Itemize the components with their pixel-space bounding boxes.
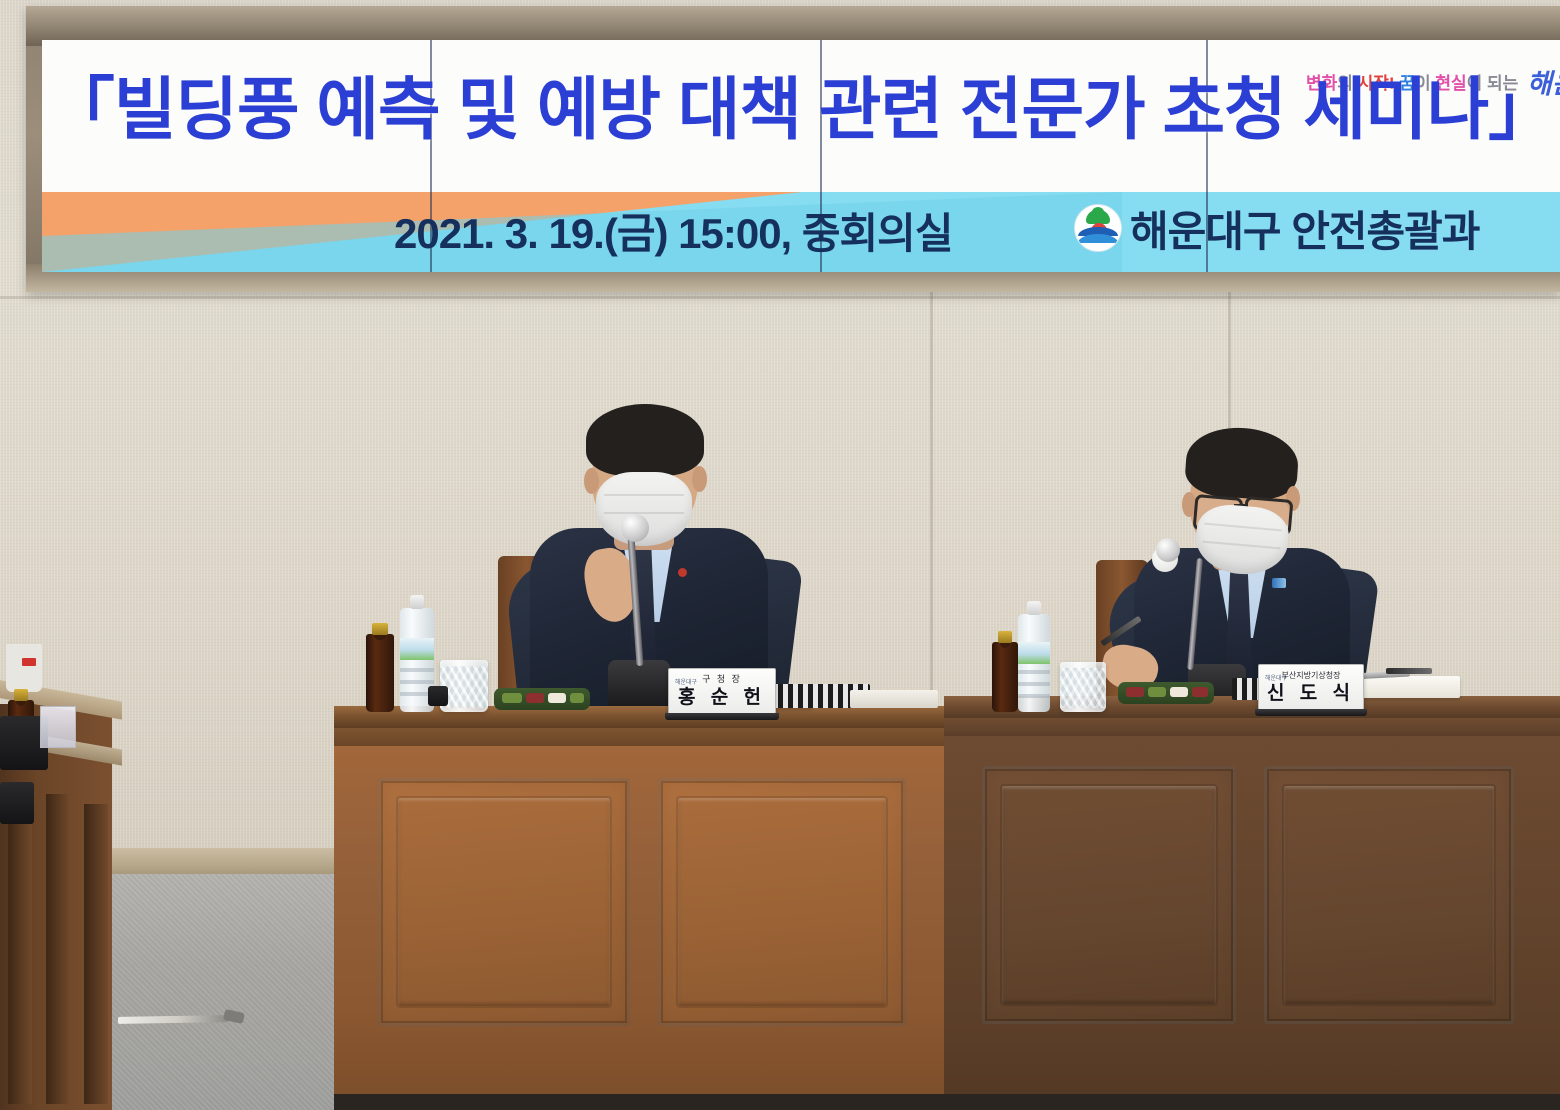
tray-food-2 [1148, 687, 1166, 697]
bottle-cap [998, 631, 1013, 643]
mask-fold-2 [1203, 541, 1280, 550]
water-bottle-ridge-2 [1018, 682, 1050, 686]
desk-left-panel-2-inset [678, 798, 886, 1006]
tray-food-3 [1170, 687, 1188, 697]
dark-drink-bottle-left [366, 634, 394, 712]
nameplate-right: 해운대구 부산지방기상청장 신 도 식 [1258, 664, 1364, 710]
bottle-cap [14, 689, 29, 701]
wall-seam-horizontal [0, 296, 1560, 299]
dark-drink-bottle-right [992, 642, 1018, 712]
desk-left-edge [334, 728, 946, 746]
glass-cut-pattern [1060, 668, 1106, 708]
mask-fold-1 [604, 494, 685, 496]
haeundae-emblem-icon [1074, 204, 1122, 252]
bench-slat-3 [84, 804, 108, 1104]
tray-food-4 [570, 693, 584, 703]
desk-right [944, 696, 1560, 1110]
left-person-ear-right [692, 466, 707, 492]
desk-left-panel-2 [658, 778, 906, 1026]
water-bottle-right [1018, 614, 1050, 712]
water-bottle-cap [1027, 601, 1041, 615]
bench-slat-2 [46, 794, 70, 1104]
mic-base-left [608, 660, 670, 708]
nameplate-right-stand [1255, 709, 1367, 716]
documents-right [1352, 676, 1460, 698]
pen-on-desk-right [1386, 668, 1432, 674]
small-device-left [428, 686, 448, 706]
left-person-ear-left [584, 468, 599, 494]
desk-right-panel-2-inset [1284, 786, 1494, 1004]
tray-food-4 [1192, 687, 1208, 697]
desk-right-face [944, 736, 1560, 1094]
mask-fold-1 [1205, 523, 1282, 532]
desk-left [334, 706, 946, 1110]
snack-tray-left [494, 688, 590, 710]
seminar-banner: 변화의 시작! 꿈이 현실이 되는 해운대 「빌딩풍 예측 및 예방 대책 관련… [42, 40, 1560, 272]
desk-right-panel-1 [982, 766, 1236, 1024]
nameplate-right-name: 신 도 식 [1267, 684, 1355, 703]
crystal-glass-right [1060, 662, 1106, 712]
banner-title: 「빌딩풍 예측 및 예방 대책 관련 전문가 초청 세미나」 [42, 54, 1560, 153]
nameplate-left-title: 구 청 장 [702, 675, 742, 684]
seminar-photo: 변화의 시작! 꿈이 현실이 되는 해운대 「빌딩풍 예측 및 예방 대책 관련… [0, 0, 1560, 1110]
notebook-left [850, 690, 938, 708]
water-bottle-ridge-1 [1018, 670, 1050, 674]
left-person-hair [586, 404, 704, 476]
paper-cup-logo [22, 658, 36, 666]
water-bottle-label [1018, 642, 1050, 664]
desk-right-panel-2 [1264, 766, 1514, 1024]
tray-food-3 [548, 693, 566, 703]
nameplate-left-stand [665, 713, 779, 720]
bench-slat-1 [8, 784, 32, 1104]
paper-cup-dispenser [6, 644, 42, 692]
desk-left-kick [334, 1094, 946, 1110]
mic-capsule-left [621, 514, 649, 542]
mic-capsule-right [1156, 538, 1180, 562]
water-bottle-cap [410, 595, 425, 609]
desk-right-panel-1-inset [1002, 786, 1216, 1004]
water-bottle-ridge-2 [400, 680, 434, 684]
foreground-equipment-2 [0, 782, 34, 824]
tray-food-2 [526, 693, 544, 703]
banner-subtitle: 2021. 3. 19.(금) 15:00, 중회의실 [394, 200, 952, 261]
desk-left-panel-1 [378, 778, 630, 1026]
nameplate-left-logo: 해운대구 [675, 677, 697, 686]
mask-fold-2 [604, 512, 685, 514]
tray-food-1 [1126, 687, 1144, 697]
nameplate-right-logo: 해운대구 [1265, 673, 1287, 682]
desk-right-kick [944, 1094, 1560, 1110]
right-person-lapel-badge [1272, 578, 1286, 588]
nameplate-right-title: 부산지방기상청장 [1282, 672, 1341, 680]
desk-left-panel-1-inset [398, 798, 610, 1006]
water-bottle-ridge-3 [1018, 694, 1050, 698]
desk-right-edge [944, 718, 1560, 736]
nameplate-left: 해운대구 구 청 장 홍 순 헌 [668, 668, 776, 714]
tray-food-1 [502, 693, 522, 703]
bottle-cap [372, 623, 388, 635]
water-bottle-label [400, 638, 434, 660]
nameplate-left-name: 홍 순 헌 [678, 688, 766, 707]
desk-left-face [334, 746, 946, 1094]
banner-department: 해운대구 안전총괄과 [1130, 198, 1479, 259]
emblem-leaf-top [1092, 207, 1104, 217]
snack-tray-right [1118, 682, 1214, 704]
water-bottle-ridge-1 [400, 668, 434, 672]
left-person-lapel-pin [678, 568, 687, 577]
foreground-name-tent-card [40, 706, 76, 748]
